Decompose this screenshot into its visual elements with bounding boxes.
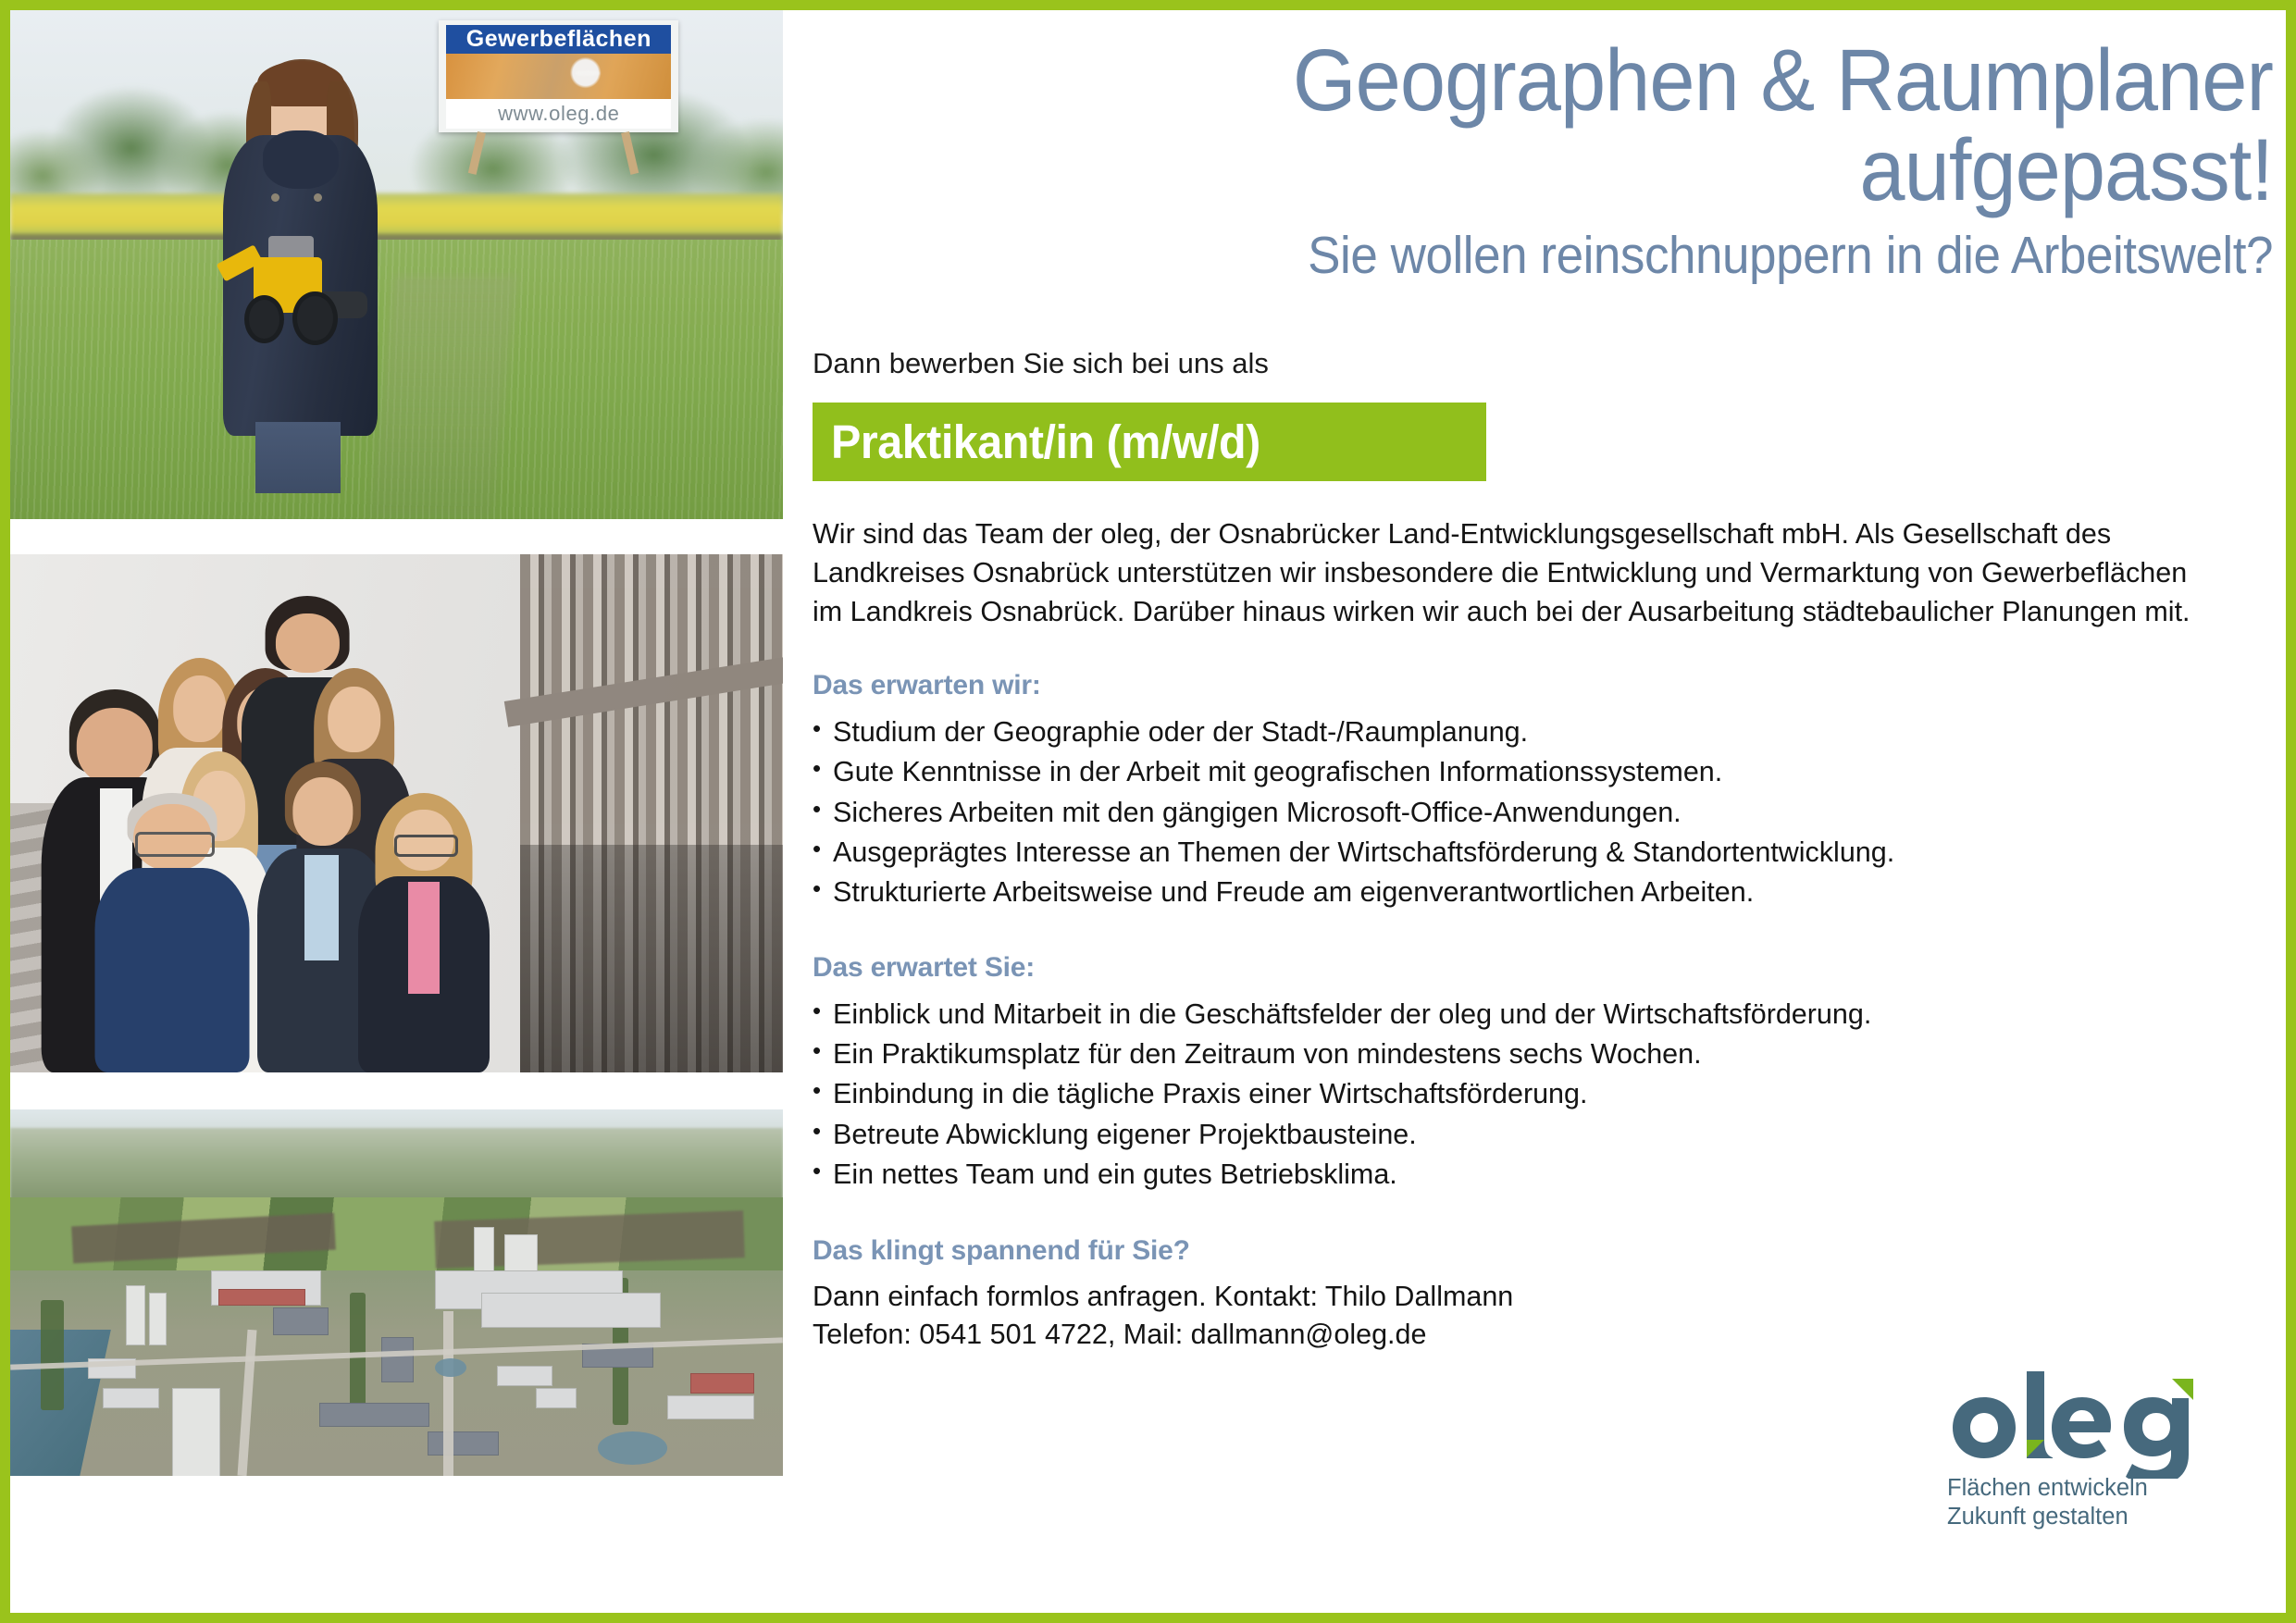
photo-field: Gewerbeflächen www.oleg.de [10, 10, 783, 519]
list-item: Einblick und Mitarbeit in die Geschäftsf… [813, 995, 2273, 1035]
job-title-text: Praktikant/in (m/w/d) [831, 415, 1260, 469]
section-title: Das erwartet Sie: [813, 952, 2273, 984]
list-item: Gute Kenntnisse in der Arbeit mit geogra… [813, 752, 2273, 792]
contact-phone-mail: Telefon: 0541 501 4722, Mail: dallmann@o… [813, 1316, 2273, 1354]
building [497, 1366, 552, 1386]
building [428, 1431, 499, 1456]
page-title: Geographen & Raumplaner aufgepasst! [914, 10, 2273, 216]
photo-aerial [10, 1109, 783, 1476]
intro-paragraph: Wir sind das Team der oleg, der Osnabrüc… [813, 514, 2219, 631]
billboard-headline-text: Gewerbeflächen [466, 26, 652, 53]
building [381, 1337, 414, 1383]
list-item: Ein Praktikumsplatz für den Zeitraum von… [813, 1035, 2273, 1074]
excavator-wheel [292, 291, 338, 345]
silo [504, 1234, 537, 1273]
head [293, 777, 354, 846]
road [443, 1311, 454, 1476]
lead-in-text: Dann bewerben Sie sich bei uns als [813, 345, 2273, 382]
building [690, 1373, 754, 1394]
building [481, 1293, 661, 1328]
contact-person: Dann einfach formlos anfragen. Kontakt: … [813, 1278, 2273, 1316]
silo [126, 1285, 144, 1345]
oleg-wordmark-icon [1942, 1369, 2247, 1479]
benefits-list: Einblick und Mitarbeit in die Geschäftsf… [813, 995, 2273, 1195]
headline-line-1: Geographen & Raumplaner [1293, 31, 2273, 130]
contact-block: Das klingt spannend für Sie? Dann einfac… [813, 1235, 2273, 1354]
team-member [95, 793, 250, 1072]
billboard-sign: Gewerbeflächen www.oleg.de [439, 20, 678, 132]
section-requirements: Das erwarten wir: Studium der Geographie… [813, 670, 2273, 912]
contact-title: Das klingt spannend für Sie? [813, 1235, 2273, 1267]
requirements-list: Studium der Geographie oder der Stadt-/R… [813, 712, 2273, 912]
silo [149, 1293, 167, 1345]
head [276, 613, 339, 674]
list-item: Ausgeprägtes Interesse an Themen der Wir… [813, 833, 2273, 873]
building [667, 1395, 754, 1419]
scarf [263, 130, 338, 189]
blouse [408, 882, 440, 994]
stairwell-shadow [520, 845, 783, 1072]
pond [598, 1431, 667, 1465]
job-advert-page: Gewerbeflächen www.oleg.de [0, 0, 2296, 1623]
billboard-headline: Gewerbeflächen [446, 25, 671, 54]
logo-tagline-line-2: Zukunft gestalten [1947, 1503, 2148, 1531]
tree-row [41, 1300, 64, 1410]
coat-button [271, 193, 279, 202]
list-item: Ein nettes Team und ein gutes Betriebskl… [813, 1155, 2273, 1195]
building [218, 1289, 305, 1306]
toy-excavator [215, 252, 377, 341]
person-in-field [204, 46, 397, 494]
billboard-url: www.oleg.de [446, 99, 671, 130]
list-item: Einbindung in die tägliche Praxis einer … [813, 1074, 2273, 1114]
pond [435, 1358, 465, 1377]
silo-tower [172, 1388, 220, 1476]
helmet-icon [575, 70, 600, 76]
head [328, 687, 381, 752]
glasses-icon [135, 832, 215, 857]
list-item: Strukturierte Arbeitsweise und Freude am… [813, 873, 2273, 912]
logo-tagline-line-1: Flächen entwickeln [1947, 1474, 2148, 1503]
silo [474, 1227, 494, 1276]
shirt [304, 855, 339, 960]
rapeseed-strip [10, 193, 783, 240]
torso [95, 868, 250, 1072]
headline-line-2: aufgepasst! [1859, 121, 2273, 219]
building [273, 1307, 329, 1335]
billboard-url-text: www.oleg.de [498, 102, 619, 126]
building [536, 1388, 577, 1408]
jeans [255, 422, 341, 493]
team-member [358, 793, 490, 1072]
list-item: Betreute Abwicklung eigener Projektbaust… [813, 1115, 2273, 1155]
coat-button [314, 193, 322, 202]
building [319, 1403, 429, 1427]
photo-team [10, 554, 783, 1072]
excavator-wheel [244, 295, 284, 344]
logo-tagline: Flächen entwickeln Zukunft gestalten [1947, 1474, 2148, 1531]
list-item: Sicheres Arbeiten mit den gängigen Micro… [813, 793, 2273, 833]
glasses-icon [394, 835, 457, 857]
list-item: Studium der Geographie oder der Stadt-/R… [813, 712, 2273, 752]
building [103, 1388, 158, 1408]
photo-column: Gewerbeflächen www.oleg.de [10, 10, 783, 1613]
section-title: Das erwarten wir: [813, 670, 2273, 701]
billboard-photo [446, 54, 671, 98]
section-benefits: Das erwartet Sie: Einblick und Mitarbeit… [813, 952, 2273, 1195]
page-subtitle: Sie wollen reinschnuppern in die Arbeits… [914, 229, 2273, 284]
page-inner: Gewerbeflächen www.oleg.de [10, 10, 2286, 1613]
job-title-banner: Praktikant/in (m/w/d) [813, 403, 1486, 481]
oleg-logo: Flächen entwickeln Zukunft gestalten [1942, 1369, 2247, 1531]
